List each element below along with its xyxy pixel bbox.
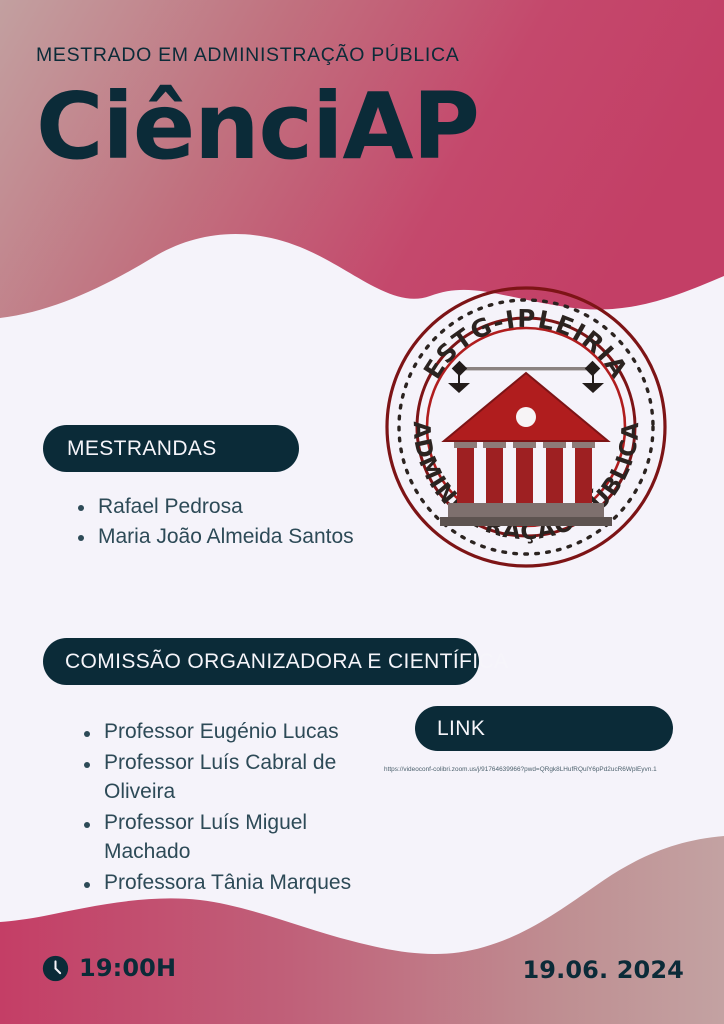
list-item: Professora Tânia Marques [78,869,378,898]
page-title: CiênciAP [36,81,656,173]
comissao-list: Professor Eugénio Lucas Professor Luís C… [78,718,378,900]
list-item: Rafael Pedrosa [72,492,402,522]
kicker-text: MESTRADO EM ADMINISTRAÇÃO PÚBLICA [36,44,656,67]
event-time: 19:00H [79,954,176,982]
event-date: 19.06. 2024 [522,956,684,984]
list-item: Maria João Almeida Santos [72,522,402,552]
pill-label-comissao: COMISSÃO ORGANIZADORA E CIENTÍFICA [65,650,508,674]
mestrandas-list: Rafael Pedrosa Maria João Almeida Santos [72,492,402,553]
poster-canvas: MESTRADO EM ADMINISTRAÇÃO PÚBLICA Ciênci… [0,0,724,1024]
list-item: Professor Eugénio Lucas [78,718,378,747]
pill-label-mestrandas: MESTRANDAS [67,437,217,461]
footer-time-block: 19:00H [42,954,176,982]
estg-ipleiria-seal: ESTG-IPLEIRIA ADMINISTRAÇÃO PÚBLICA [382,283,670,571]
link-button[interactable]: LINK [415,706,673,751]
section-heading-mestrandas: MESTRANDAS [43,425,299,472]
section-heading-comissao: COMISSÃO ORGANIZADORA E CIENTÍFICA [43,638,479,685]
header-block: MESTRADO EM ADMINISTRAÇÃO PÚBLICA Ciênci… [36,44,656,173]
courthouse-icon [440,373,612,526]
list-item: Professor Luís Miguel Machado [78,809,378,867]
clock-icon [42,955,69,982]
link-button-label: LINK [437,717,485,741]
list-item: Professor Luís Cabral de Oliveira [78,749,378,807]
zoom-meeting-url[interactable]: https://videoconf-colibri.zoom.us/j/9176… [384,766,704,773]
